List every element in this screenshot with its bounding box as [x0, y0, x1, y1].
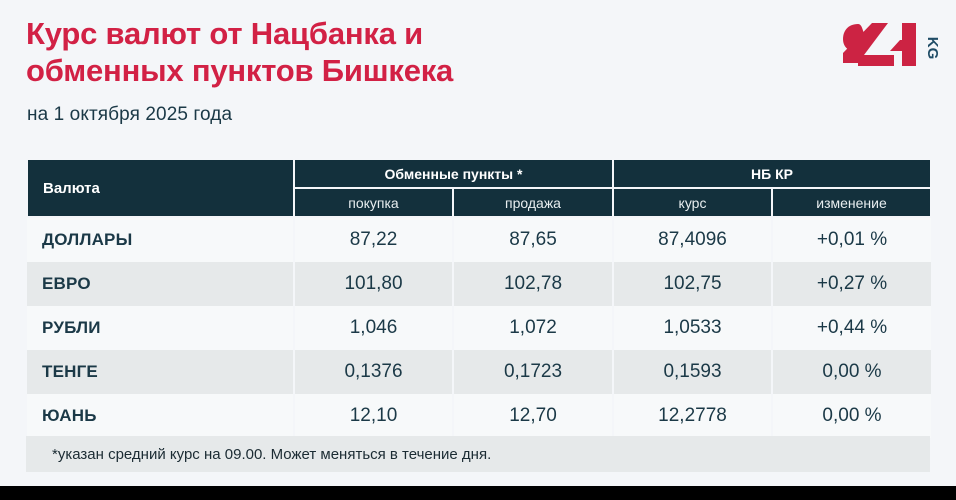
cell-change: +0,27 %: [772, 262, 931, 306]
column-header-rate: курс: [613, 188, 772, 217]
column-header-change: изменение: [772, 188, 931, 217]
table-head: Валюта Обменные пункты * НБ КР покупка п…: [27, 159, 931, 217]
cell-rate: 12,2778: [613, 394, 772, 438]
table-row: ЮАНЬ 12,10 12,70 12,2778 0,00 %: [27, 394, 931, 438]
column-header-buy: покупка: [294, 188, 453, 217]
column-group-exchange-offices: Обменные пункты *: [294, 159, 613, 188]
cell-currency: ТЕНГЕ: [27, 350, 294, 394]
cell-buy: 101,80: [294, 262, 453, 306]
cell-change: +0,44 %: [772, 306, 931, 350]
cell-change: +0,01 %: [772, 217, 931, 262]
cell-rate: 102,75: [613, 262, 772, 306]
cell-currency: ЮАНЬ: [27, 394, 294, 438]
cell-buy: 1,046: [294, 306, 453, 350]
cell-change: 0,00 %: [772, 394, 931, 438]
column-group-nbkr: НБ КР: [613, 159, 931, 188]
table-row: ДОЛЛАРЫ 87,22 87,65 87,4096 +0,01 %: [27, 217, 931, 262]
cell-sell: 12,70: [453, 394, 613, 438]
page-subtitle: на 1 октября 2025 года: [27, 104, 232, 126]
page-root: Курс валют от Нацбанка и обменных пункто…: [0, 0, 956, 500]
cell-currency: ДОЛЛАРЫ: [27, 217, 294, 262]
cell-rate: 0,1593: [613, 350, 772, 394]
cell-buy: 0,1376: [294, 350, 453, 394]
logo-mark: KG: [842, 18, 938, 76]
table-row: ТЕНГЕ 0,1376 0,1723 0,1593 0,00 %: [27, 350, 931, 394]
table-row: ЕВРО 101,80 102,78 102,75 +0,27 %: [27, 262, 931, 306]
rates-table: Валюта Обменные пункты * НБ КР покупка п…: [26, 158, 932, 438]
cell-sell: 87,65: [453, 217, 613, 262]
24kg-logo: KG: [842, 18, 938, 76]
table-row: РУБЛИ 1,046 1,072 1,0533 +0,44 %: [27, 306, 931, 350]
table-head-row-groups: Валюта Обменные пункты * НБ КР: [27, 159, 931, 188]
column-header-sell: продажа: [453, 188, 613, 217]
table-body: ДОЛЛАРЫ 87,22 87,65 87,4096 +0,01 % ЕВРО…: [27, 217, 931, 438]
cell-buy: 12,10: [294, 394, 453, 438]
page-header: Курс валют от Нацбанка и обменных пункто…: [26, 16, 930, 136]
cell-sell: 0,1723: [453, 350, 613, 394]
cell-rate: 87,4096: [613, 217, 772, 262]
column-header-currency: Валюта: [27, 159, 294, 217]
cell-currency: ЕВРО: [27, 262, 294, 306]
cell-sell: 102,78: [453, 262, 613, 306]
bottom-bar: [0, 486, 956, 500]
rates-table-container: Валюта Обменные пункты * НБ КР покупка п…: [26, 158, 930, 438]
footnote-text: *указан средний курс на 09.00. Может мен…: [26, 446, 491, 463]
cell-rate: 1,0533: [613, 306, 772, 350]
cell-currency: РУБЛИ: [27, 306, 294, 350]
cell-buy: 87,22: [294, 217, 453, 262]
cell-change: 0,00 %: [772, 350, 931, 394]
logo-suffix-text: KG: [924, 37, 938, 60]
cell-sell: 1,072: [453, 306, 613, 350]
footnote-bar: *указан средний курс на 09.00. Может мен…: [26, 436, 930, 472]
page-title: Курс валют от Нацбанка и обменных пункто…: [26, 16, 666, 89]
